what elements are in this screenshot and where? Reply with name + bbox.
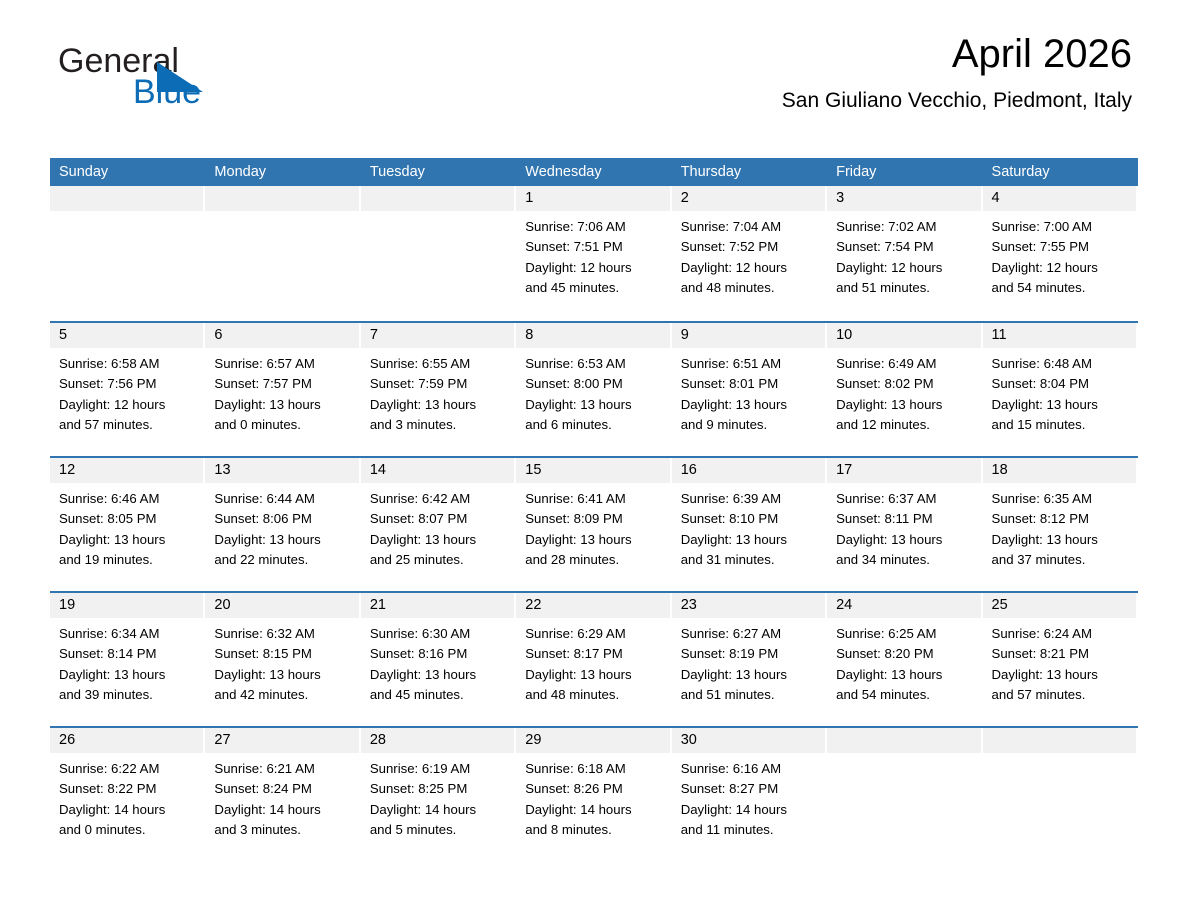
day-number-band: 8: [516, 323, 669, 348]
daylight-text-line1: Daylight: 13 hours: [525, 395, 667, 415]
weekday-header-row: Sunday Monday Tuesday Wednesday Thursday…: [50, 158, 1138, 186]
daylight-text-line1: Daylight: 13 hours: [214, 530, 356, 550]
sunrise-text: Sunrise: 6:42 AM: [370, 489, 512, 509]
day-number-band: 30: [672, 728, 825, 753]
daylight-text-line1: Daylight: 12 hours: [681, 258, 823, 278]
sunset-text: Sunset: 8:20 PM: [836, 644, 978, 664]
day-sun-info: Sunrise: 6:22 AMSunset: 8:22 PMDaylight:…: [50, 753, 205, 840]
daylight-text-line2: and 42 minutes.: [214, 685, 356, 705]
day-number: 17: [827, 458, 980, 483]
sunrise-text: Sunrise: 6:58 AM: [59, 354, 201, 374]
daylight-text-line2: and 31 minutes.: [681, 550, 823, 570]
daylight-text-line2: and 5 minutes.: [370, 820, 512, 840]
sunrise-text: Sunrise: 6:16 AM: [681, 759, 823, 779]
calendar-day-cell[interactable]: 8Sunrise: 6:53 AMSunset: 8:00 PMDaylight…: [516, 323, 671, 456]
daylight-text-line1: Daylight: 13 hours: [370, 395, 512, 415]
daylight-text-line1: Daylight: 13 hours: [681, 530, 823, 550]
day-number-band: [983, 728, 1136, 753]
daylight-text-line2: and 28 minutes.: [525, 550, 667, 570]
day-number-band: 5: [50, 323, 203, 348]
day-number: 9: [672, 323, 825, 348]
day-number-band: 11: [983, 323, 1136, 348]
day-number-band: 21: [361, 593, 514, 618]
calendar-day-cell[interactable]: 15Sunrise: 6:41 AMSunset: 8:09 PMDayligh…: [516, 458, 671, 591]
calendar-day-cell[interactable]: 25Sunrise: 6:24 AMSunset: 8:21 PMDayligh…: [983, 593, 1138, 726]
day-number-band: 19: [50, 593, 203, 618]
day-number-band: 24: [827, 593, 980, 618]
sunrise-text: Sunrise: 7:00 AM: [992, 217, 1134, 237]
sunrise-text: Sunrise: 7:06 AM: [525, 217, 667, 237]
daylight-text-line1: Daylight: 13 hours: [214, 665, 356, 685]
day-sun-info: Sunrise: 6:30 AMSunset: 8:16 PMDaylight:…: [361, 618, 516, 705]
day-number-band: 14: [361, 458, 514, 483]
daylight-text-line1: Daylight: 14 hours: [59, 800, 201, 820]
calendar-day-cell[interactable]: 7Sunrise: 6:55 AMSunset: 7:59 PMDaylight…: [361, 323, 516, 456]
calendar-day-cell[interactable]: 12Sunrise: 6:46 AMSunset: 8:05 PMDayligh…: [50, 458, 205, 591]
sunrise-text: Sunrise: 6:44 AM: [214, 489, 356, 509]
day-number: 20: [205, 593, 358, 618]
day-number: 24: [827, 593, 980, 618]
day-number: 21: [361, 593, 514, 618]
calendar-day-cell[interactable]: 27Sunrise: 6:21 AMSunset: 8:24 PMDayligh…: [205, 728, 360, 861]
daylight-text-line1: Daylight: 14 hours: [525, 800, 667, 820]
day-number-band: 22: [516, 593, 669, 618]
day-sun-info: Sunrise: 6:55 AMSunset: 7:59 PMDaylight:…: [361, 348, 516, 435]
sunrise-text: Sunrise: 6:55 AM: [370, 354, 512, 374]
page-title: April 2026: [782, 30, 1132, 78]
sunrise-text: Sunrise: 6:30 AM: [370, 624, 512, 644]
sunrise-text: Sunrise: 6:49 AM: [836, 354, 978, 374]
day-number-band: 16: [672, 458, 825, 483]
sunset-text: Sunset: 8:01 PM: [681, 374, 823, 394]
calendar-day-cell[interactable]: 1Sunrise: 7:06 AMSunset: 7:51 PMDaylight…: [516, 186, 671, 321]
calendar-day-cell[interactable]: 29Sunrise: 6:18 AMSunset: 8:26 PMDayligh…: [516, 728, 671, 861]
day-sun-info: Sunrise: 6:16 AMSunset: 8:27 PMDaylight:…: [672, 753, 827, 840]
day-sun-info: Sunrise: 6:21 AMSunset: 8:24 PMDaylight:…: [205, 753, 360, 840]
daylight-text-line1: Daylight: 13 hours: [836, 395, 978, 415]
daylight-text-line2: and 6 minutes.: [525, 415, 667, 435]
daylight-text-line1: Daylight: 13 hours: [992, 395, 1134, 415]
calendar-week-row: 1Sunrise: 7:06 AMSunset: 7:51 PMDaylight…: [50, 186, 1138, 321]
sunset-text: Sunset: 8:12 PM: [992, 509, 1134, 529]
daylight-text-line2: and 45 minutes.: [525, 278, 667, 298]
day-number: 6: [205, 323, 358, 348]
sunset-text: Sunset: 7:57 PM: [214, 374, 356, 394]
sunset-text: Sunset: 8:05 PM: [59, 509, 201, 529]
sunset-text: Sunset: 8:16 PM: [370, 644, 512, 664]
calendar-day-cell[interactable]: 4Sunrise: 7:00 AMSunset: 7:55 PMDaylight…: [983, 186, 1138, 321]
sunset-text: Sunset: 8:17 PM: [525, 644, 667, 664]
day-number: 12: [50, 458, 203, 483]
sunset-text: Sunset: 7:54 PM: [836, 237, 978, 257]
day-number: 23: [672, 593, 825, 618]
day-sun-info: Sunrise: 6:32 AMSunset: 8:15 PMDaylight:…: [205, 618, 360, 705]
day-number: 13: [205, 458, 358, 483]
calendar-day-cell[interactable]: 26Sunrise: 6:22 AMSunset: 8:22 PMDayligh…: [50, 728, 205, 861]
day-number-band: 26: [50, 728, 203, 753]
sunrise-text: Sunrise: 6:21 AM: [214, 759, 356, 779]
sunset-text: Sunset: 8:11 PM: [836, 509, 978, 529]
sunrise-text: Sunrise: 6:18 AM: [525, 759, 667, 779]
daylight-text-line2: and 3 minutes.: [370, 415, 512, 435]
weekday-header-saturday: Saturday: [983, 158, 1138, 186]
weekday-header-sunday: Sunday: [50, 158, 205, 186]
sunset-text: Sunset: 8:06 PM: [214, 509, 356, 529]
page-header: General Blue April 2026 San Giuliano Vec…: [50, 0, 1138, 110]
daylight-text-line2: and 45 minutes.: [370, 685, 512, 705]
sunset-text: Sunset: 7:52 PM: [681, 237, 823, 257]
calendar-week-row: 12Sunrise: 6:46 AMSunset: 8:05 PMDayligh…: [50, 456, 1138, 591]
sunrise-text: Sunrise: 6:32 AM: [214, 624, 356, 644]
sunrise-text: Sunrise: 6:39 AM: [681, 489, 823, 509]
daylight-text-line1: Daylight: 13 hours: [59, 530, 201, 550]
sunrise-text: Sunrise: 6:27 AM: [681, 624, 823, 644]
day-number-band: 29: [516, 728, 669, 753]
sunrise-text: Sunrise: 6:51 AM: [681, 354, 823, 374]
sunrise-text: Sunrise: 7:04 AM: [681, 217, 823, 237]
daylight-text-line1: Daylight: 13 hours: [836, 530, 978, 550]
day-sun-info: Sunrise: 6:44 AMSunset: 8:06 PMDaylight:…: [205, 483, 360, 570]
day-sun-info: Sunrise: 6:19 AMSunset: 8:25 PMDaylight:…: [361, 753, 516, 840]
day-sun-info: Sunrise: 7:00 AMSunset: 7:55 PMDaylight:…: [983, 211, 1138, 298]
daylight-text-line2: and 51 minutes.: [836, 278, 978, 298]
day-sun-info: Sunrise: 6:35 AMSunset: 8:12 PMDaylight:…: [983, 483, 1138, 570]
daylight-text-line1: Daylight: 12 hours: [992, 258, 1134, 278]
day-number: 3: [827, 186, 980, 211]
daylight-text-line2: and 0 minutes.: [214, 415, 356, 435]
day-number: 19: [50, 593, 203, 618]
day-number: 11: [983, 323, 1136, 348]
day-number: 10: [827, 323, 980, 348]
day-number: 5: [50, 323, 203, 348]
calendar-day-cell[interactable]: 2Sunrise: 7:04 AMSunset: 7:52 PMDaylight…: [672, 186, 827, 321]
calendar-day-cell[interactable]: 11Sunrise: 6:48 AMSunset: 8:04 PMDayligh…: [983, 323, 1138, 456]
day-number-band: 10: [827, 323, 980, 348]
day-number-band: 12: [50, 458, 203, 483]
day-number-band: 1: [516, 186, 669, 211]
day-sun-info: Sunrise: 6:25 AMSunset: 8:20 PMDaylight:…: [827, 618, 982, 705]
calendar-page: General Blue April 2026 San Giuliano Vec…: [0, 0, 1188, 918]
daylight-text-line1: Daylight: 13 hours: [992, 665, 1134, 685]
calendar-day-cell[interactable]: 19Sunrise: 6:34 AMSunset: 8:14 PMDayligh…: [50, 593, 205, 726]
weekday-header-thursday: Thursday: [672, 158, 827, 186]
daylight-text-line1: Daylight: 13 hours: [59, 665, 201, 685]
sunset-text: Sunset: 8:04 PM: [992, 374, 1134, 394]
sunset-text: Sunset: 8:10 PM: [681, 509, 823, 529]
day-number: 26: [50, 728, 203, 753]
sunrise-text: Sunrise: 6:24 AM: [992, 624, 1134, 644]
calendar-day-cell[interactable]: 17Sunrise: 6:37 AMSunset: 8:11 PMDayligh…: [827, 458, 982, 591]
daylight-text-line2: and 9 minutes.: [681, 415, 823, 435]
calendar-day-empty: [205, 186, 360, 321]
daylight-text-line2: and 48 minutes.: [525, 685, 667, 705]
day-sun-info: Sunrise: 6:29 AMSunset: 8:17 PMDaylight:…: [516, 618, 671, 705]
daylight-text-line2: and 19 minutes.: [59, 550, 201, 570]
calendar-day-cell[interactable]: 16Sunrise: 6:39 AMSunset: 8:10 PMDayligh…: [672, 458, 827, 591]
day-number-band: 2: [672, 186, 825, 211]
sunset-text: Sunset: 8:00 PM: [525, 374, 667, 394]
weekday-header-wednesday: Wednesday: [516, 158, 671, 186]
weekday-header-friday: Friday: [827, 158, 982, 186]
daylight-text-line2: and 3 minutes.: [214, 820, 356, 840]
daylight-text-line1: Daylight: 13 hours: [681, 395, 823, 415]
daylight-text-line2: and 12 minutes.: [836, 415, 978, 435]
day-sun-info: Sunrise: 6:51 AMSunset: 8:01 PMDaylight:…: [672, 348, 827, 435]
sunrise-text: Sunrise: 6:41 AM: [525, 489, 667, 509]
day-number-band: 7: [361, 323, 514, 348]
sunset-text: Sunset: 8:25 PM: [370, 779, 512, 799]
day-sun-info: Sunrise: 6:49 AMSunset: 8:02 PMDaylight:…: [827, 348, 982, 435]
weekday-header-monday: Monday: [205, 158, 360, 186]
day-number-band: [205, 186, 358, 211]
day-number-band: 13: [205, 458, 358, 483]
daylight-text-line1: Daylight: 13 hours: [214, 395, 356, 415]
sunset-text: Sunset: 8:09 PM: [525, 509, 667, 529]
sunset-text: Sunset: 8:14 PM: [59, 644, 201, 664]
day-number-band: 17: [827, 458, 980, 483]
sunset-text: Sunset: 7:59 PM: [370, 374, 512, 394]
day-number-band: 3: [827, 186, 980, 211]
day-sun-info: Sunrise: 6:24 AMSunset: 8:21 PMDaylight:…: [983, 618, 1138, 705]
sunset-text: Sunset: 8:27 PM: [681, 779, 823, 799]
daylight-text-line2: and 51 minutes.: [681, 685, 823, 705]
calendar-week-row: 19Sunrise: 6:34 AMSunset: 8:14 PMDayligh…: [50, 591, 1138, 726]
day-sun-info: Sunrise: 7:02 AMSunset: 7:54 PMDaylight:…: [827, 211, 982, 298]
daylight-text-line1: Daylight: 13 hours: [681, 665, 823, 685]
day-number: 16: [672, 458, 825, 483]
day-number: 22: [516, 593, 669, 618]
daylight-text-line1: Daylight: 13 hours: [992, 530, 1134, 550]
day-sun-info: Sunrise: 7:06 AMSunset: 7:51 PMDaylight:…: [516, 211, 671, 298]
daylight-text-line2: and 48 minutes.: [681, 278, 823, 298]
daylight-text-line2: and 39 minutes.: [59, 685, 201, 705]
calendar-day-cell[interactable]: 23Sunrise: 6:27 AMSunset: 8:19 PMDayligh…: [672, 593, 827, 726]
day-number: 14: [361, 458, 514, 483]
page-subtitle: San Giuliano Vecchio, Piedmont, Italy: [782, 88, 1132, 114]
sunrise-text: Sunrise: 6:57 AM: [214, 354, 356, 374]
daylight-text-line2: and 25 minutes.: [370, 550, 512, 570]
sunset-text: Sunset: 8:02 PM: [836, 374, 978, 394]
sunset-text: Sunset: 8:21 PM: [992, 644, 1134, 664]
calendar-day-cell[interactable]: 28Sunrise: 6:19 AMSunset: 8:25 PMDayligh…: [361, 728, 516, 861]
day-number: 27: [205, 728, 358, 753]
day-number-band: 20: [205, 593, 358, 618]
day-number: 30: [672, 728, 825, 753]
calendar-day-empty: [827, 728, 982, 861]
day-number-band: 23: [672, 593, 825, 618]
sunrise-text: Sunrise: 6:53 AM: [525, 354, 667, 374]
daylight-text-line2: and 15 minutes.: [992, 415, 1134, 435]
day-number-band: [827, 728, 980, 753]
day-number: 25: [983, 593, 1136, 618]
daylight-text-line1: Daylight: 14 hours: [681, 800, 823, 820]
sunset-text: Sunset: 7:56 PM: [59, 374, 201, 394]
day-number: 2: [672, 186, 825, 211]
day-sun-info: Sunrise: 6:39 AMSunset: 8:10 PMDaylight:…: [672, 483, 827, 570]
calendar-day-cell[interactable]: 9Sunrise: 6:51 AMSunset: 8:01 PMDaylight…: [672, 323, 827, 456]
daylight-text-line2: and 37 minutes.: [992, 550, 1134, 570]
sunrise-text: Sunrise: 6:46 AM: [59, 489, 201, 509]
calendar-day-cell[interactable]: 10Sunrise: 6:49 AMSunset: 8:02 PMDayligh…: [827, 323, 982, 456]
day-sun-info: Sunrise: 7:04 AMSunset: 7:52 PMDaylight:…: [672, 211, 827, 298]
sunset-text: Sunset: 8:26 PM: [525, 779, 667, 799]
day-number-band: 6: [205, 323, 358, 348]
calendar-day-cell[interactable]: 5Sunrise: 6:58 AMSunset: 7:56 PMDaylight…: [50, 323, 205, 456]
daylight-text-line1: Daylight: 13 hours: [525, 665, 667, 685]
daylight-text-line2: and 0 minutes.: [59, 820, 201, 840]
calendar-day-cell[interactable]: 22Sunrise: 6:29 AMSunset: 8:17 PMDayligh…: [516, 593, 671, 726]
daylight-text-line2: and 57 minutes.: [59, 415, 201, 435]
calendar-day-cell[interactable]: 6Sunrise: 6:57 AMSunset: 7:57 PMDaylight…: [205, 323, 360, 456]
sunrise-text: Sunrise: 6:35 AM: [992, 489, 1134, 509]
sunset-text: Sunset: 7:55 PM: [992, 237, 1134, 257]
title-block: April 2026 San Giuliano Vecchio, Piedmon…: [782, 30, 1132, 114]
sunrise-text: Sunrise: 6:48 AM: [992, 354, 1134, 374]
daylight-text-line1: Daylight: 13 hours: [370, 665, 512, 685]
day-number: 28: [361, 728, 514, 753]
day-number-band: 18: [983, 458, 1136, 483]
calendar-day-cell[interactable]: 24Sunrise: 6:25 AMSunset: 8:20 PMDayligh…: [827, 593, 982, 726]
calendar-day-empty: [50, 186, 205, 321]
calendar-week-row: 5Sunrise: 6:58 AMSunset: 7:56 PMDaylight…: [50, 321, 1138, 456]
calendar-grid: Sunday Monday Tuesday Wednesday Thursday…: [50, 158, 1138, 861]
calendar-day-cell[interactable]: 20Sunrise: 6:32 AMSunset: 8:15 PMDayligh…: [205, 593, 360, 726]
daylight-text-line2: and 54 minutes.: [836, 685, 978, 705]
day-number-band: 15: [516, 458, 669, 483]
day-sun-info: Sunrise: 6:46 AMSunset: 8:05 PMDaylight:…: [50, 483, 205, 570]
sunset-text: Sunset: 8:22 PM: [59, 779, 201, 799]
generalblue-logo[interactable]: General Blue: [58, 42, 258, 114]
day-number-band: 9: [672, 323, 825, 348]
calendar-day-cell[interactable]: 13Sunrise: 6:44 AMSunset: 8:06 PMDayligh…: [205, 458, 360, 591]
daylight-text-line2: and 57 minutes.: [992, 685, 1134, 705]
day-sun-info: Sunrise: 6:41 AMSunset: 8:09 PMDaylight:…: [516, 483, 671, 570]
daylight-text-line2: and 11 minutes.: [681, 820, 823, 840]
daylight-text-line2: and 34 minutes.: [836, 550, 978, 570]
sunset-text: Sunset: 8:24 PM: [214, 779, 356, 799]
sunrise-text: Sunrise: 6:29 AM: [525, 624, 667, 644]
day-number: 7: [361, 323, 514, 348]
sunset-text: Sunset: 8:15 PM: [214, 644, 356, 664]
day-sun-info: Sunrise: 6:37 AMSunset: 8:11 PMDaylight:…: [827, 483, 982, 570]
daylight-text-line1: Daylight: 14 hours: [214, 800, 356, 820]
day-sun-info: Sunrise: 6:57 AMSunset: 7:57 PMDaylight:…: [205, 348, 360, 435]
day-sun-info: Sunrise: 6:48 AMSunset: 8:04 PMDaylight:…: [983, 348, 1138, 435]
day-number-band: 25: [983, 593, 1136, 618]
day-number: 4: [983, 186, 1136, 211]
daylight-text-line1: Daylight: 12 hours: [836, 258, 978, 278]
day-number: 18: [983, 458, 1136, 483]
sunrise-text: Sunrise: 6:25 AM: [836, 624, 978, 644]
day-number: 8: [516, 323, 669, 348]
day-number: 15: [516, 458, 669, 483]
day-sun-info: Sunrise: 6:58 AMSunset: 7:56 PMDaylight:…: [50, 348, 205, 435]
daylight-text-line1: Daylight: 13 hours: [525, 530, 667, 550]
weekday-header-tuesday: Tuesday: [361, 158, 516, 186]
day-number-band: [361, 186, 514, 211]
calendar-day-cell[interactable]: 18Sunrise: 6:35 AMSunset: 8:12 PMDayligh…: [983, 458, 1138, 591]
calendar-day-empty: [983, 728, 1138, 861]
day-number: 1: [516, 186, 669, 211]
calendar-day-empty: [361, 186, 516, 321]
daylight-text-line2: and 54 minutes.: [992, 278, 1134, 298]
sunrise-text: Sunrise: 6:22 AM: [59, 759, 201, 779]
day-sun-info: Sunrise: 6:18 AMSunset: 8:26 PMDaylight:…: [516, 753, 671, 840]
daylight-text-line1: Daylight: 12 hours: [525, 258, 667, 278]
daylight-text-line2: and 8 minutes.: [525, 820, 667, 840]
day-sun-info: Sunrise: 6:53 AMSunset: 8:00 PMDaylight:…: [516, 348, 671, 435]
sunrise-text: Sunrise: 6:34 AM: [59, 624, 201, 644]
calendar-week-row: 26Sunrise: 6:22 AMSunset: 8:22 PMDayligh…: [50, 726, 1138, 861]
day-sun-info: Sunrise: 6:27 AMSunset: 8:19 PMDaylight:…: [672, 618, 827, 705]
day-number-band: 27: [205, 728, 358, 753]
day-number-band: 28: [361, 728, 514, 753]
day-number: 29: [516, 728, 669, 753]
day-number-band: 4: [983, 186, 1136, 211]
daylight-text-line1: Daylight: 13 hours: [370, 530, 512, 550]
daylight-text-line1: Daylight: 14 hours: [370, 800, 512, 820]
daylight-text-line1: Daylight: 13 hours: [836, 665, 978, 685]
calendar-day-cell[interactable]: 3Sunrise: 7:02 AMSunset: 7:54 PMDaylight…: [827, 186, 982, 321]
calendar-day-cell[interactable]: 21Sunrise: 6:30 AMSunset: 8:16 PMDayligh…: [361, 593, 516, 726]
logo-text-blue: Blue: [133, 73, 201, 111]
sunset-text: Sunset: 7:51 PM: [525, 237, 667, 257]
sunset-text: Sunset: 8:19 PM: [681, 644, 823, 664]
calendar-day-cell[interactable]: 14Sunrise: 6:42 AMSunset: 8:07 PMDayligh…: [361, 458, 516, 591]
calendar-weeks: 1Sunrise: 7:06 AMSunset: 7:51 PMDaylight…: [50, 186, 1138, 861]
sunrise-text: Sunrise: 6:37 AM: [836, 489, 978, 509]
calendar-day-cell[interactable]: 30Sunrise: 6:16 AMSunset: 8:27 PMDayligh…: [672, 728, 827, 861]
day-sun-info: Sunrise: 6:34 AMSunset: 8:14 PMDaylight:…: [50, 618, 205, 705]
daylight-text-line1: Daylight: 12 hours: [59, 395, 201, 415]
sunrise-text: Sunrise: 7:02 AM: [836, 217, 978, 237]
daylight-text-line2: and 22 minutes.: [214, 550, 356, 570]
day-sun-info: Sunrise: 6:42 AMSunset: 8:07 PMDaylight:…: [361, 483, 516, 570]
sunrise-text: Sunrise: 6:19 AM: [370, 759, 512, 779]
day-number-band: [50, 186, 203, 211]
sunset-text: Sunset: 8:07 PM: [370, 509, 512, 529]
